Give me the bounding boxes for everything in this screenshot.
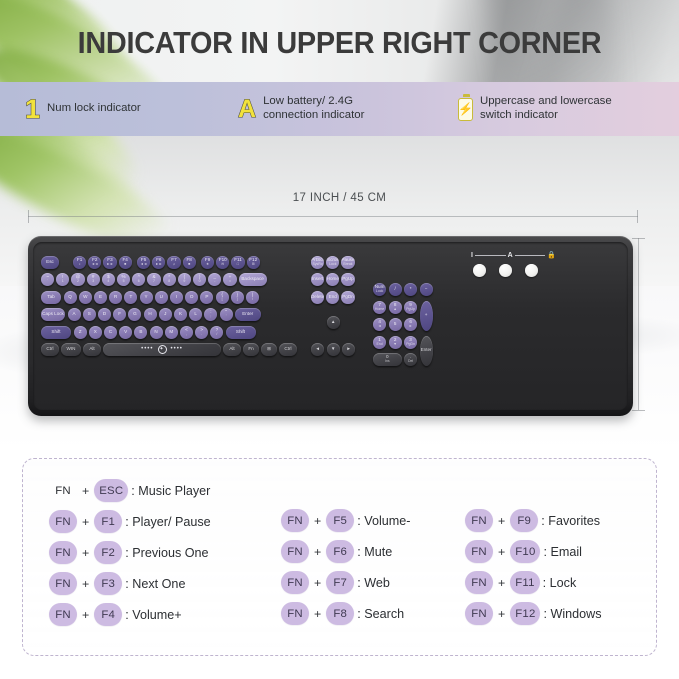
num-lock-one-icon: 1 bbox=[25, 96, 40, 123]
keycap-shift: Shift bbox=[226, 326, 256, 339]
keycap-z: Z bbox=[74, 326, 87, 339]
shortcut-plus-sign: + bbox=[314, 514, 321, 528]
shortcut-action-label: : Web bbox=[357, 576, 390, 590]
keycap-a: A bbox=[68, 308, 81, 321]
keycap-o: O bbox=[185, 291, 198, 304]
shortcut-row: FN+F9: Favorites bbox=[465, 505, 655, 536]
shortcut-action-label: : Player/ Pause bbox=[125, 515, 210, 529]
keycap-alt: Alt bbox=[223, 343, 241, 356]
keycap-f: F bbox=[113, 308, 126, 321]
shortcut-plus-sign: + bbox=[82, 546, 89, 560]
keycap--: ~` bbox=[41, 273, 54, 286]
keycap-c: C bbox=[104, 326, 117, 339]
keycap--: %5 bbox=[117, 273, 130, 286]
keycap-9: 9PgUp bbox=[404, 301, 417, 314]
led-label-divider bbox=[515, 255, 546, 256]
shortcut-key-chip: ESC bbox=[94, 479, 128, 502]
shortcut-row: FN+F4: Volume+ bbox=[49, 599, 279, 630]
battery-bolt-icon: ⚡ bbox=[458, 98, 473, 121]
indicator-item-battery-connection: A Low battery/ 2.4G connection indicator bbox=[238, 95, 448, 123]
keycap-7: 7Home bbox=[373, 301, 386, 314]
space-logo-dots-right: •••• bbox=[171, 346, 183, 352]
keyboard-deck: I A 🔒 EscF1♪F2◄◄F3►►F4■F5◄◄F6►►F7♫F8■F9★… bbox=[33, 242, 628, 410]
keycap--: "' bbox=[220, 308, 233, 321]
keycap-f11: F11□ bbox=[231, 256, 244, 269]
shortcut-plus-sign: + bbox=[498, 576, 505, 590]
shortcut-fn-chip: FN bbox=[465, 602, 493, 625]
indicator-label-line1: Low battery/ 2.4G bbox=[263, 95, 353, 107]
shortcut-action-label: : Windows bbox=[543, 607, 601, 621]
shortcut-plus-sign: + bbox=[82, 515, 89, 529]
shortcut-fn-chip: FN bbox=[49, 479, 77, 502]
shortcut-fn-chip: FN bbox=[49, 541, 77, 564]
shortcut-plus-sign: + bbox=[314, 607, 321, 621]
infographic-page: INDICATOR IN UPPER RIGHT CORNER 1 Num lo… bbox=[0, 0, 679, 679]
keycap--: !1 bbox=[56, 273, 69, 286]
keycap-end: End bbox=[326, 291, 339, 304]
height-dimension-line bbox=[638, 238, 639, 410]
indicator-item-numlock: 1 Num lock indicator bbox=[25, 96, 230, 123]
keycap-pgup: PgUp bbox=[341, 273, 354, 286]
shortcut-column-3: FN+F9: FavoritesFN+F10: EmailFN+F11: Loc… bbox=[465, 505, 655, 629]
shortcut-column-1: FN+ESC: Music PlayerFN+F1: Player/ Pause… bbox=[49, 475, 279, 630]
shortcut-fn-chip: FN bbox=[465, 509, 493, 532]
shortcut-row: FN+F10: Email bbox=[465, 536, 655, 567]
keycap-6: 6► bbox=[404, 318, 417, 331]
shortcut-action-label: : Next One bbox=[125, 577, 185, 591]
shortcut-action-label: : Mute bbox=[357, 545, 392, 559]
led-indicator-labels: I A 🔒 bbox=[471, 250, 556, 260]
shortcut-row: FN+F6: Mute bbox=[281, 536, 461, 567]
height-dimension-tick-bottom bbox=[632, 410, 645, 411]
keycap--: / bbox=[389, 283, 402, 296]
keycap-e: E bbox=[94, 291, 107, 304]
keycap-s: S bbox=[83, 308, 96, 321]
shortcut-fn-chip: FN bbox=[49, 603, 77, 626]
shortcut-fn-chip: FN bbox=[49, 572, 77, 595]
led-light-capslock bbox=[525, 264, 538, 277]
shortcut-key-chip: F9 bbox=[510, 509, 538, 532]
keycap-3: 3PgDn bbox=[404, 336, 417, 349]
shortcut-action-label: : Volume- bbox=[357, 514, 410, 528]
keycap--: #3 bbox=[87, 273, 100, 286]
keycap-numpad-decimal: .Del bbox=[404, 353, 417, 366]
shortcut-key-chip: F10 bbox=[510, 540, 540, 563]
shortcut-row: FN+F11: Lock bbox=[465, 567, 655, 598]
keycap-shift: Shift bbox=[41, 326, 71, 339]
page-title: INDICATOR IN UPPER RIGHT CORNER bbox=[24, 25, 655, 61]
shortcut-row: FN+F2: Previous One bbox=[49, 537, 279, 568]
keycap--: >. bbox=[195, 326, 208, 339]
keycap-f7: F7♫ bbox=[167, 256, 180, 269]
keycap-win: WIN bbox=[61, 343, 81, 356]
keycap--: $4 bbox=[102, 273, 115, 286]
keycap-space: ••••✦•••• bbox=[103, 343, 221, 356]
shortcut-action-label: : Lock bbox=[543, 576, 577, 590]
keycap-ctrl: Ctrl bbox=[279, 343, 297, 356]
keycap-scroll: ScrollLock bbox=[326, 256, 339, 269]
keycap-j: J bbox=[159, 308, 172, 321]
keycap-r: R bbox=[109, 291, 122, 304]
keycap-f1: F1♪ bbox=[73, 256, 86, 269]
keycap-backspace: Backspace bbox=[239, 273, 267, 286]
keycap-f2: F2◄◄ bbox=[88, 256, 101, 269]
shortcut-row: FN+F12: Windows bbox=[465, 598, 655, 629]
keycap-alt: Alt bbox=[83, 343, 101, 356]
shortcut-fn-chip: FN bbox=[49, 510, 77, 533]
keycap--: <, bbox=[180, 326, 193, 339]
shortcut-key-chip: F4 bbox=[94, 603, 122, 626]
keycap-prtscr: PrtScrSysRq bbox=[311, 256, 324, 269]
keyboard-product-image: I A 🔒 EscF1♪F2◄◄F3►►F4■F5◄◄F6►►F7♫F8■F9★… bbox=[28, 236, 633, 416]
space-logo-dots-left: •••• bbox=[141, 346, 153, 352]
keycap--: ^6 bbox=[132, 273, 145, 286]
keycap--: ?/ bbox=[210, 326, 223, 339]
keycap-v: V bbox=[119, 326, 132, 339]
keycap-m: M bbox=[165, 326, 178, 339]
keycap-home: Home bbox=[326, 273, 339, 286]
keycap-i: I bbox=[170, 291, 183, 304]
keycap-p: P bbox=[200, 291, 213, 304]
keycap-8: 8▲ bbox=[389, 301, 402, 314]
shortcut-plus-sign: + bbox=[314, 576, 321, 590]
shortcut-plus-sign: + bbox=[498, 545, 505, 559]
shortcut-plus-sign: + bbox=[498, 607, 505, 621]
shortcut-fn-chip: FN bbox=[281, 509, 309, 532]
keycap--: (9 bbox=[178, 273, 191, 286]
shortcut-key-chip: F12 bbox=[510, 602, 540, 625]
keycap--: )0 bbox=[193, 273, 206, 286]
indicator-label-line2: connection indicator bbox=[263, 109, 364, 121]
keycap-f5: F5◄◄ bbox=[137, 256, 150, 269]
shortcut-key-chip: F2 bbox=[94, 541, 122, 564]
shortcut-row: FN+F8: Search bbox=[281, 598, 461, 629]
keycap--: − bbox=[420, 283, 433, 296]
keycap--: }] bbox=[231, 291, 244, 304]
led-label-numlock: I bbox=[471, 252, 473, 259]
led-label-divider bbox=[475, 255, 506, 256]
keycap-2: 2▼ bbox=[389, 336, 402, 349]
shortcut-row: FN+F3: Next One bbox=[49, 568, 279, 599]
keycap-delete: Delete bbox=[311, 291, 324, 304]
led-light-connection bbox=[499, 264, 512, 277]
shortcut-row: FN+F5: Volume- bbox=[281, 505, 461, 536]
led-label-connection: A bbox=[508, 252, 513, 259]
keycap--: += bbox=[223, 273, 236, 286]
shortcut-fn-chip: FN bbox=[281, 540, 309, 563]
keycap-1: 1End bbox=[373, 336, 386, 349]
shortcut-key-chip: F8 bbox=[326, 602, 354, 625]
indicator-band: 1 Num lock indicator A Low battery/ 2.4G… bbox=[0, 82, 679, 136]
indicator-label-line2: switch indicator bbox=[480, 109, 558, 121]
keycap--: @2 bbox=[71, 273, 84, 286]
keycap--: ▼ bbox=[327, 343, 340, 356]
fn-shortcuts-panel: FN+ESC: Music PlayerFN+F1: Player/ Pause… bbox=[22, 458, 657, 656]
led-label-capslock: 🔒 bbox=[547, 251, 556, 259]
keycap--: _- bbox=[208, 273, 221, 286]
shortcut-key-chip: F1 bbox=[94, 510, 122, 533]
height-dimension-tick-top bbox=[632, 238, 645, 239]
keycap-numpad-0: 0Ins bbox=[373, 353, 402, 366]
shortcut-column-2: FN+F5: Volume-FN+F6: MuteFN+F7: WebFN+F8… bbox=[281, 505, 461, 629]
keycap-f8: F8■ bbox=[183, 256, 196, 269]
shortcut-fn-chip: FN bbox=[281, 602, 309, 625]
keycap-f12: F12⊞ bbox=[247, 256, 260, 269]
shortcut-fn-chip: FN bbox=[281, 571, 309, 594]
keycap--: ▲ bbox=[327, 316, 340, 329]
keycap-g: G bbox=[128, 308, 141, 321]
keycap-caps-lock: Caps Lock bbox=[41, 308, 65, 321]
keycap--: &7 bbox=[147, 273, 160, 286]
keycap-insert: Insert bbox=[311, 273, 324, 286]
keycap-x: X bbox=[89, 326, 102, 339]
keycap-f3: F3►► bbox=[103, 256, 116, 269]
keycap-t: T bbox=[124, 291, 137, 304]
keycap-esc: Esc bbox=[41, 256, 59, 269]
keycap-pause: PauseBreak bbox=[341, 256, 354, 269]
letter-a-icon: A bbox=[238, 97, 256, 122]
shortcut-row: FN+ESC: Music Player bbox=[49, 475, 279, 506]
shortcut-fn-chip: FN bbox=[465, 571, 493, 594]
shortcut-key-chip: F3 bbox=[94, 572, 122, 595]
shortcut-plus-sign: + bbox=[314, 545, 321, 559]
keycap--: |\ bbox=[246, 291, 259, 304]
keycap-w: W bbox=[79, 291, 92, 304]
keycap-pgdn: PgDn bbox=[341, 291, 354, 304]
shortcut-plus-sign: + bbox=[82, 484, 89, 498]
indicator-label-battery-connection: Low battery/ 2.4G connection indicator bbox=[263, 95, 364, 123]
shortcut-action-label: : Email bbox=[543, 545, 582, 559]
keycap-k: K bbox=[174, 308, 187, 321]
brand-logo-icon: ✦ bbox=[158, 345, 167, 354]
keycap-u: U bbox=[155, 291, 168, 304]
keycap-numpad-plus: + bbox=[420, 301, 433, 332]
shortcut-row: FN+F7: Web bbox=[281, 567, 461, 598]
indicator-item-case-switch: ⚡ Uppercase and lowercase switch indicat… bbox=[458, 95, 673, 123]
keycap-tab: Tab bbox=[41, 291, 61, 304]
shortcut-plus-sign: + bbox=[498, 514, 505, 528]
keycap-q: Q bbox=[64, 291, 77, 304]
indicator-label-numlock: Num lock indicator bbox=[47, 102, 141, 116]
width-dimension-tick-right bbox=[637, 210, 638, 223]
shortcut-key-chip: F7 bbox=[326, 571, 354, 594]
shortcut-action-label: : Search bbox=[357, 607, 404, 621]
keycap--: ► bbox=[342, 343, 355, 356]
shortcut-action-label: : Previous One bbox=[125, 546, 208, 560]
width-dimension-tick-left bbox=[28, 210, 29, 223]
keycap-enter: Enter bbox=[235, 308, 261, 321]
shortcut-fn-chip: FN bbox=[465, 540, 493, 563]
led-light-numlock bbox=[473, 264, 486, 277]
keycap--: ◄ bbox=[311, 343, 324, 356]
shortcut-key-chip: F5 bbox=[326, 509, 354, 532]
shortcut-plus-sign: + bbox=[82, 577, 89, 591]
keycap-5: 5 bbox=[389, 318, 402, 331]
keycap-ctrl: Ctrl bbox=[41, 343, 59, 356]
keycap--: *8 bbox=[163, 273, 176, 286]
keycap--: * bbox=[404, 283, 417, 296]
indicator-label-case-switch: Uppercase and lowercase switch indicator bbox=[480, 95, 612, 123]
width-dimension-label: 17 INCH / 45 CM bbox=[0, 192, 679, 204]
keycap-f4: F4■ bbox=[119, 256, 132, 269]
width-dimension-line bbox=[28, 216, 638, 217]
shortcut-action-label: : Music Player bbox=[131, 484, 210, 498]
shortcut-action-label: : Volume+ bbox=[125, 608, 181, 622]
keycap-y: Y bbox=[140, 291, 153, 304]
keycap-numpad-enter: Enter bbox=[420, 336, 433, 367]
shortcut-action-label: : Favorites bbox=[541, 514, 600, 528]
indicator-label-line1: Uppercase and lowercase bbox=[480, 95, 612, 107]
shortcut-plus-sign: + bbox=[82, 608, 89, 622]
shortcut-row: FN+F1: Player/ Pause bbox=[49, 506, 279, 537]
keycap-num: NumLock bbox=[373, 283, 386, 296]
keycap-f10: F10✉ bbox=[216, 256, 229, 269]
keycap-fn: Fn bbox=[243, 343, 259, 356]
keycap-n: N bbox=[150, 326, 163, 339]
keycap-b: B bbox=[134, 326, 147, 339]
shortcut-key-chip: F11 bbox=[510, 571, 539, 594]
keycap-h: H bbox=[144, 308, 157, 321]
keycap--: :; bbox=[204, 308, 217, 321]
shortcut-key-chip: F6 bbox=[326, 540, 354, 563]
keycap-l: L bbox=[189, 308, 202, 321]
keycap--: ⊞ bbox=[261, 343, 277, 356]
keycap-d: D bbox=[98, 308, 111, 321]
keycap-f6: F6►► bbox=[152, 256, 165, 269]
keycap-f9: F9★ bbox=[201, 256, 214, 269]
keycap--: {[ bbox=[216, 291, 229, 304]
keycap-4: 4◄ bbox=[373, 318, 386, 331]
